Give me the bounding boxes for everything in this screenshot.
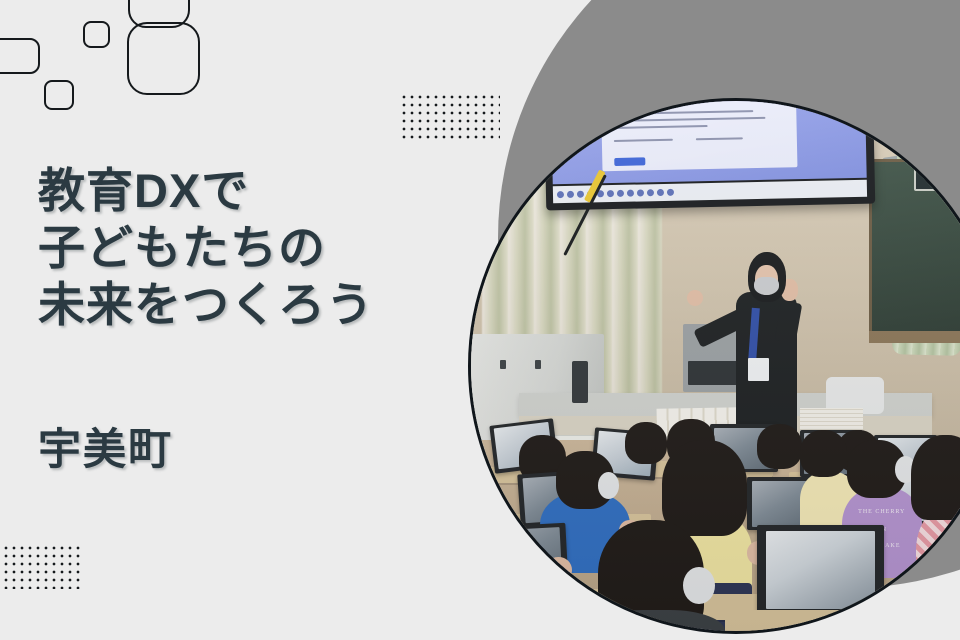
wall-clock — [914, 165, 956, 192]
rounded-square-3-icon — [83, 21, 110, 48]
rounded-square-6-icon — [128, 0, 190, 28]
rounded-square-2-icon — [44, 80, 74, 110]
headline-line-2: 子どもたちの — [38, 219, 374, 276]
dot-grid-bottom — [0, 544, 82, 589]
subtitle-municipality: 宇美町 — [38, 424, 173, 476]
page-title: 教育DXで 子どもたちの 未来をつくろう — [38, 162, 374, 333]
headline-line-1: 教育DXで — [38, 162, 374, 219]
rounded-square-4-icon — [127, 22, 200, 95]
rounded-square-1-icon — [0, 38, 40, 74]
headline-line-3: 未来をつくろう — [38, 276, 374, 333]
classroom-photo: THE CHERRY ON THE CAKE — [468, 98, 960, 634]
banner-canvas: THE CHERRY ON THE CAKE — [0, 0, 960, 640]
